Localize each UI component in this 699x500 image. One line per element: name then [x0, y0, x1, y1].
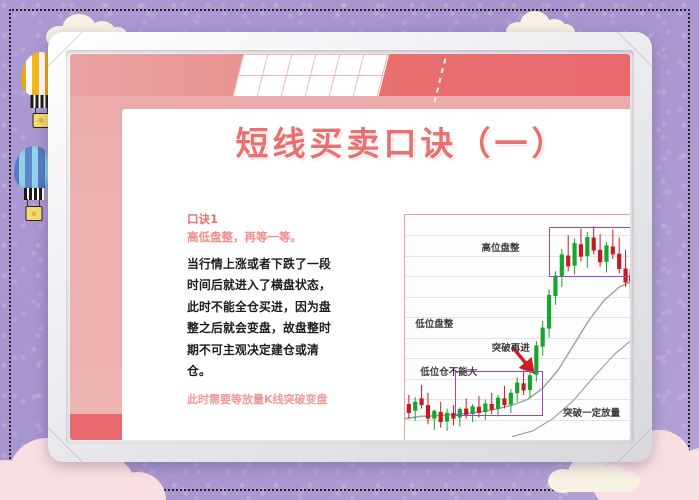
chart-annotation: 突破一定放量 — [563, 405, 620, 419]
kouj-subtitle: 高低盘整，再等一等。 — [187, 228, 337, 248]
chart-annotation: 低位盘整 — [415, 316, 453, 330]
candle-body — [407, 404, 411, 413]
text-column: 口诀1 高低盘整，再等一等。 当行情上涨或者下跌了一段时间后就进入了横盘状态，此… — [187, 211, 337, 408]
candle-body — [419, 398, 423, 405]
candle-body — [439, 412, 443, 422]
candle-body — [553, 276, 557, 296]
candlestick-chart: 高位盘整低位盘整突破再进低位仓不能大突破一定放量 — [404, 214, 630, 440]
photo-frame: 短线买卖口诀（一） 口诀1 高低盘整，再等一等。 当行情上涨或者下跌了一段时间后… — [48, 32, 652, 462]
chart-annotation: 低位仓不能大 — [420, 364, 477, 378]
low-consolidation-box — [455, 371, 543, 416]
candle-body — [426, 405, 430, 419]
high-consolidation-box — [549, 227, 630, 277]
candle-body — [534, 346, 538, 375]
chart-annotation: 高位盘整 — [482, 240, 520, 254]
chart-annotation: 突破再进 — [492, 340, 530, 354]
kouj-footer: 此时需要等放量K线突破变盘 — [187, 391, 337, 409]
candle-body — [541, 328, 545, 347]
candle-body — [445, 413, 449, 422]
kouj-body: 当行情上涨或者下跌了一段时间后就进入了横盘状态，此时不能全仓买进，因为盘整之后就… — [187, 254, 337, 383]
kouj-label: 口诀1 — [187, 211, 337, 228]
mat-ribbon-grid — [233, 54, 389, 96]
balloon-basket-yellow — [33, 113, 50, 128]
candle-body — [432, 411, 436, 419]
candle-body — [413, 402, 417, 411]
poster-canvas: 短线买卖口诀（一） 口诀1 高低盘整，再等一等。 当行情上涨或者下跌了一段时间后… — [0, 0, 699, 500]
balloon-basket-blue — [26, 206, 43, 221]
content-card: 短线买卖口诀（一） 口诀1 高低盘整，再等一等。 当行情上涨或者下跌了一段时间后… — [122, 109, 630, 440]
candle-body — [547, 295, 551, 329]
coral-mat: 短线买卖口诀（一） 口诀1 高低盘整，再等一等。 当行情上涨或者下跌了一段时间后… — [70, 54, 630, 440]
page-title: 短线买卖口诀（一） — [122, 117, 630, 165]
